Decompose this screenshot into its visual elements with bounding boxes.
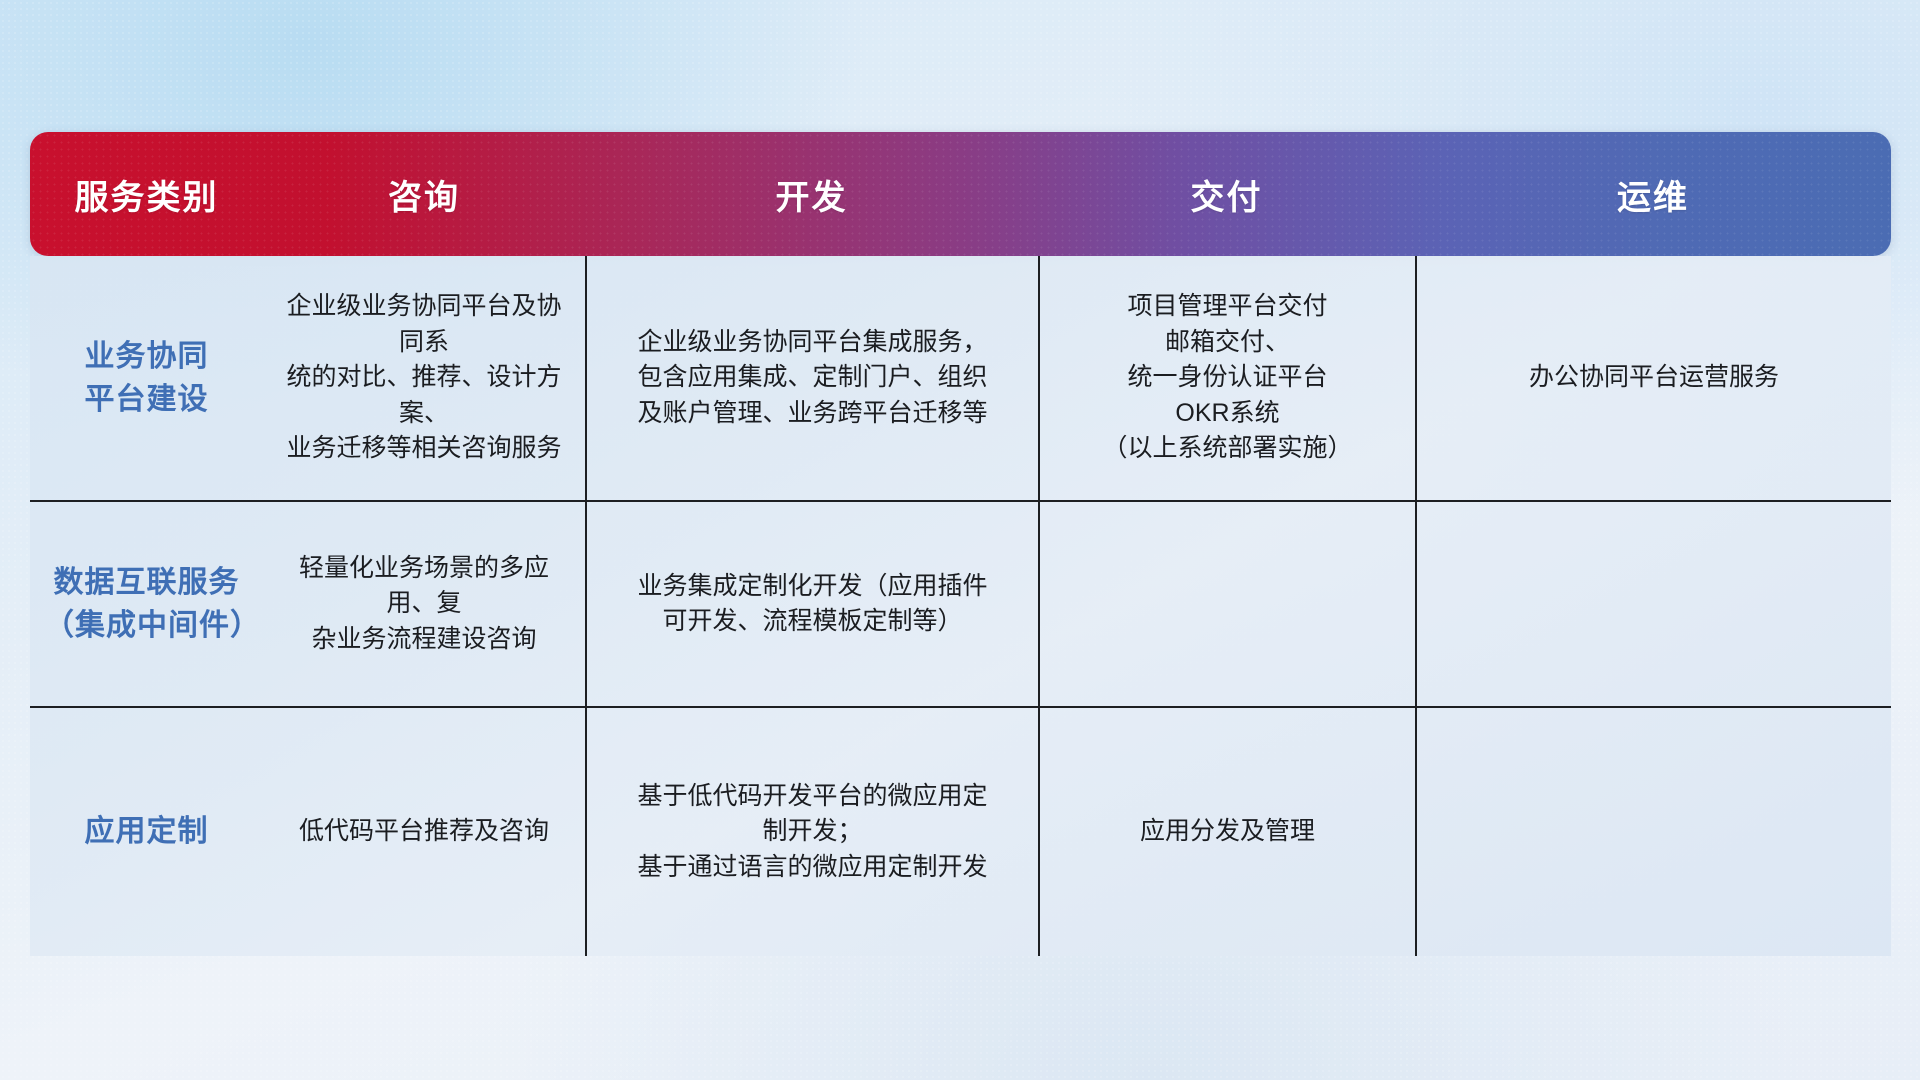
cell-consulting: 低代码平台推荐及咨询 [263, 708, 585, 956]
cell-development: 基于低代码开发平台的微应用定 制开发； 基于通过语言的微应用定制开发 [585, 708, 1038, 956]
header-cell-operations: 运维 [1415, 132, 1891, 256]
cell-development: 企业级业务协同平台集成服务， 包含应用集成、定制门户、组织 及账户管理、业务跨平… [585, 256, 1038, 500]
service-matrix-table: 服务类别 咨询 开发 交付 运维 业务协同 平台建设 企业级业务协同平台及协同系… [30, 132, 1891, 954]
header-label-operations: 运维 [1617, 170, 1689, 219]
row-category-label: 应用定制 [30, 708, 263, 956]
header-label-delivery: 交付 [1191, 170, 1263, 219]
header-label-service-category: 服务类别 [75, 170, 219, 219]
header-cell-service-category: 服务类别 [30, 132, 263, 256]
cell-operations: 办公协同平台运营服务 [1415, 256, 1891, 500]
header-cell-delivery: 交付 [1038, 132, 1415, 256]
table-header-row: 服务类别 咨询 开发 交付 运维 [30, 132, 1891, 256]
table-body: 业务协同 平台建设 企业级业务协同平台及协同系 统的对比、推荐、设计方案、 业务… [30, 256, 1891, 956]
cell-delivery [1038, 502, 1415, 706]
cell-development: 业务集成定制化开发（应用插件 可开发、流程模板定制等） [585, 502, 1038, 706]
row-category-label: 业务协同 平台建设 [30, 256, 263, 500]
header-cell-development: 开发 [585, 132, 1038, 256]
header-cell-consulting: 咨询 [263, 132, 585, 256]
cell-delivery: 应用分发及管理 [1038, 708, 1415, 956]
cell-delivery: 项目管理平台交付 邮箱交付、 统一身份认证平台 OKR系统 （以上系统部署实施） [1038, 256, 1415, 500]
cell-operations [1415, 502, 1891, 706]
table-row: 数据互联服务 （集成中间件） 轻量化业务场景的多应用、复 杂业务流程建设咨询 业… [30, 500, 1891, 706]
header-label-development: 开发 [776, 170, 848, 219]
table-row: 应用定制 低代码平台推荐及咨询 基于低代码开发平台的微应用定 制开发； 基于通过… [30, 706, 1891, 956]
cell-consulting: 企业级业务协同平台及协同系 统的对比、推荐、设计方案、 业务迁移等相关咨询服务 [263, 256, 585, 500]
table-row: 业务协同 平台建设 企业级业务协同平台及协同系 统的对比、推荐、设计方案、 业务… [30, 256, 1891, 500]
slide-background: 服务类别 咨询 开发 交付 运维 业务协同 平台建设 企业级业务协同平台及协同系… [0, 0, 1920, 1080]
row-category-label: 数据互联服务 （集成中间件） [30, 502, 263, 706]
header-label-consulting: 咨询 [388, 170, 460, 219]
cell-consulting: 轻量化业务场景的多应用、复 杂业务流程建设咨询 [263, 502, 585, 706]
cell-operations [1415, 708, 1891, 956]
